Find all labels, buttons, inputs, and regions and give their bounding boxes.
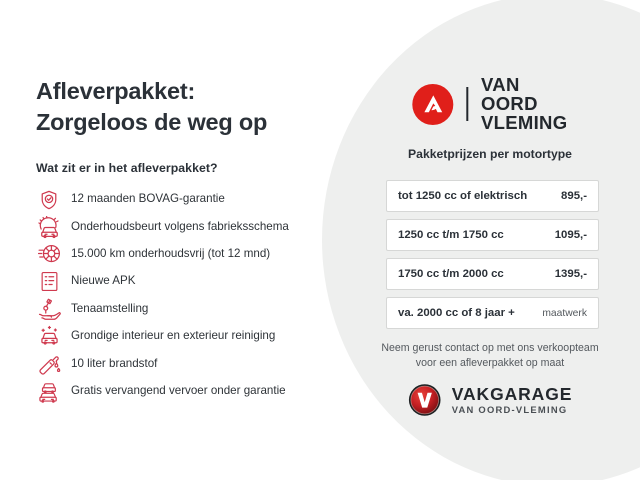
price-row-value: 1095,- bbox=[555, 229, 587, 241]
list-item-label: Tenaamstelling bbox=[71, 303, 148, 316]
car-service-gear-icon bbox=[36, 214, 62, 240]
list-item-label: 15.000 km onderhoudsvrij (tot 12 mnd) bbox=[71, 248, 270, 261]
price-row-label: 1250 cc t/m 1750 cc bbox=[398, 229, 504, 241]
vakgarage-name-main: VAKGARAGE bbox=[452, 386, 573, 404]
headline-line-2: Zorgeloos de weg op bbox=[36, 107, 326, 138]
left-content-column: Afleverpakket: Zorgeloos de weg op Wat z… bbox=[0, 0, 340, 480]
brand-logo: VAN OORD VLEMING bbox=[412, 76, 567, 133]
list-item: Nieuwe APK bbox=[36, 268, 336, 295]
price-row-value: 1395,- bbox=[555, 268, 587, 280]
list-item: Onderhoudsbeurt volgens fabrieksschema bbox=[36, 213, 336, 240]
price-row-value: 895,- bbox=[561, 190, 587, 202]
table-row: va. 2000 cc of 8 jaar + maatwerk bbox=[386, 297, 599, 329]
a-logo-icon bbox=[412, 84, 453, 125]
table-row: tot 1250 cc of elektrisch 895,- bbox=[386, 180, 599, 212]
list-item-label: 12 maanden BOVAG-garantie bbox=[71, 193, 225, 206]
list-item: Gratis vervangend vervoer onder garantie bbox=[36, 378, 336, 405]
price-row-value: maatwerk bbox=[542, 308, 587, 319]
wheel-speed-icon bbox=[36, 241, 62, 267]
vakgarage-v-icon bbox=[408, 383, 442, 417]
price-table: tot 1250 cc of elektrisch 895,- 1250 cc … bbox=[386, 180, 599, 336]
shield-check-icon bbox=[36, 187, 62, 213]
vakgarage-name-sub: VAN OORD-VLEMING bbox=[452, 405, 573, 414]
list-item-label: Nieuwe APK bbox=[71, 275, 135, 288]
list-item-label: 10 liter brandstof bbox=[71, 358, 157, 371]
list-item: 12 maanden BOVAG-garantie bbox=[36, 186, 336, 213]
headline-line-1: Afleverpakket: bbox=[36, 78, 195, 104]
brand-name-line-1: VAN OORD bbox=[481, 76, 568, 114]
page-title: Afleverpakket: Zorgeloos de weg op bbox=[36, 76, 326, 137]
logo-divider bbox=[466, 87, 468, 121]
contact-note: Neem gerust contact op met ons verkoopte… bbox=[352, 341, 628, 371]
poster-canvas: Afleverpakket: Zorgeloos de weg op Wat z… bbox=[0, 0, 640, 480]
list-item-label: Onderhoudsbeurt volgens fabrieksschema bbox=[71, 221, 289, 234]
price-row-label: va. 2000 cc of 8 jaar + bbox=[398, 307, 515, 319]
price-row-label: tot 1250 cc of elektrisch bbox=[398, 190, 527, 202]
contact-note-line-2: voor een afleverpakket op maat bbox=[352, 356, 628, 371]
brand-name: VAN OORD VLEMING bbox=[481, 76, 568, 133]
table-row: 1750 cc t/m 2000 cc 1395,- bbox=[386, 258, 599, 290]
list-item: 15.000 km onderhoudsvrij (tot 12 mnd) bbox=[36, 241, 336, 268]
right-content-column: VAN OORD VLEMING Pakketprijzen per motor… bbox=[340, 0, 640, 480]
towbar-hand-icon bbox=[36, 296, 62, 322]
price-table-title: Pakketprijzen per motortype bbox=[340, 147, 640, 161]
table-row: 1250 cc t/m 1750 cc 1095,- bbox=[386, 219, 599, 251]
contact-note-line-1: Neem gerust contact op met ons verkoopte… bbox=[352, 341, 628, 356]
list-item: 10 liter brandstof bbox=[36, 350, 336, 377]
fuel-nozzle-icon bbox=[36, 351, 62, 377]
checklist-document-icon bbox=[36, 269, 62, 295]
vakgarage-logo: VAKGARAGE VAN OORD-VLEMING bbox=[408, 383, 573, 417]
price-row-label: 1750 cc t/m 2000 cc bbox=[398, 268, 504, 280]
car-sparkle-clean-icon bbox=[36, 324, 62, 350]
feature-list: 12 maanden BOVAG-garantie Onderhoudsbeur… bbox=[36, 186, 336, 405]
list-item-label: Gratis vervangend vervoer onder garantie bbox=[71, 385, 286, 398]
list-item: Grondige interieur en exterieur reinigin… bbox=[36, 323, 336, 350]
brand-name-line-2: VLEMING bbox=[481, 114, 568, 133]
section-question: Wat zit er in het afleverpakket? bbox=[36, 161, 218, 175]
two-cars-replacement-icon bbox=[36, 378, 62, 404]
list-item-label: Grondige interieur en exterieur reinigin… bbox=[71, 330, 275, 343]
list-item: Tenaamstelling bbox=[36, 296, 336, 323]
vakgarage-name: VAKGARAGE VAN OORD-VLEMING bbox=[452, 386, 573, 415]
